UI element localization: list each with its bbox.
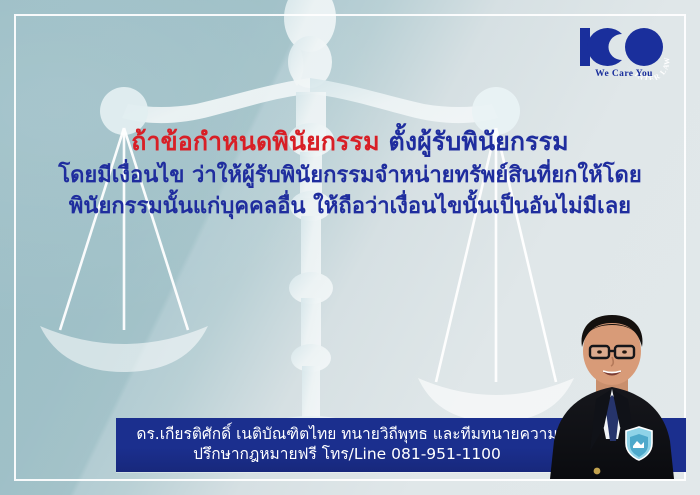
headline-line-1-red: ถ้าข้อกำหนดพินัยกรรม [131, 127, 379, 156]
contact-footer-bar: ดร.เกียรติศักดิ์ เนติบัณฑิตไทย ทนายวิถีพ… [116, 418, 578, 472]
ico-inter-law-logo: INTER LAW We Care You [570, 20, 678, 80]
headline-line-2: โดยมีเงื่อนไข ว่าให้ผู้รับพินัยกรรมจำหน่… [0, 162, 700, 191]
poster-canvas: INTER LAW We Care You ถ้าข้อกำหนดพินัยกร… [0, 0, 700, 495]
headline-line-1-blue: ตั้งผู้รับพินัยกรรม [388, 127, 568, 156]
footer-line-name: ดร.เกียรติศักดิ์ เนติบัณฑิตไทย ทนายวิถีพ… [116, 418, 578, 443]
headline-block: ถ้าข้อกำหนดพินัยกรรม ตั้งผู้รับพินัยกรรม… [0, 126, 700, 225]
headline-line-1: ถ้าข้อกำหนดพินัยกรรม ตั้งผู้รับพินัยกรรม [0, 126, 700, 159]
headline-line-3: พินัยกรรมนั้นแก่บุคคลอื่น ให้ถือว่าเงื่อ… [0, 193, 700, 222]
svg-text:We Care You: We Care You [595, 69, 653, 79]
footer-line-contact: ปรึกษากฎหมายฟรี โทร/Line 081-951-1100 [116, 443, 578, 463]
lawyer-portrait-photo [546, 301, 678, 479]
shield-badge-icon [626, 427, 652, 460]
